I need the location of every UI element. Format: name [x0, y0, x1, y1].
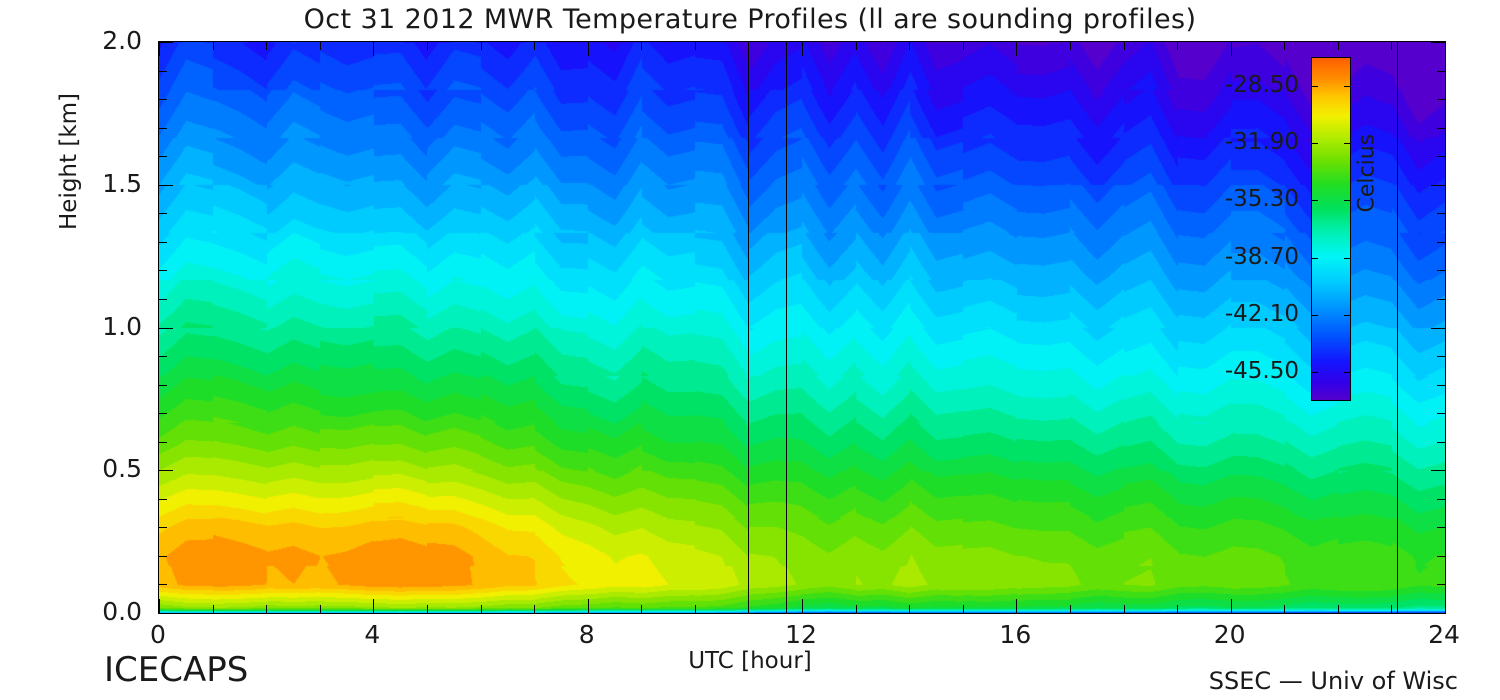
y-tick-1.8: [159, 99, 167, 100]
colorbar-tick--35.30: [1344, 200, 1351, 201]
y-tick-right-0: [1431, 613, 1445, 614]
y-tick-right-0.6: [1437, 442, 1445, 443]
x-tick-label-4: 4: [332, 620, 412, 649]
y-tick-right-0.5: [1431, 470, 1445, 471]
colorbar-label--42.10: -42.10: [1199, 301, 1299, 327]
y-tick-2: [159, 42, 173, 43]
x-tick-top-22: [1338, 42, 1339, 50]
colorbar-tick--28.50: [1344, 86, 1351, 87]
y-tick-0.1: [159, 584, 167, 585]
y-tick-1.4: [159, 213, 167, 214]
x-tick-9: [641, 605, 642, 613]
x-tick-label-24: 24: [1404, 620, 1484, 649]
y-tick-right-1.8: [1437, 99, 1445, 100]
y-tick-right-0.8: [1437, 385, 1445, 386]
sounding-profile-line-2: [786, 42, 787, 613]
x-tick-8: [588, 599, 589, 613]
y-tick-right-1.2: [1437, 270, 1445, 271]
x-tick-19: [1177, 605, 1178, 613]
colorbar-label--28.50: -28.50: [1199, 72, 1299, 98]
x-tick-top-14: [909, 42, 910, 50]
colorbar-label--38.70: -38.70: [1199, 244, 1299, 270]
x-tick-top-19: [1177, 42, 1178, 50]
sounding-profile-line-3: [1397, 42, 1398, 613]
x-tick-12: [802, 599, 803, 613]
y-tick-1.2: [159, 270, 167, 271]
y-tick-0.8: [159, 385, 167, 386]
x-tick-top-9: [641, 42, 642, 50]
x-tick-top-21: [1284, 42, 1285, 50]
institution-credit: SSEC — Univ of Wisc: [1209, 667, 1458, 695]
colorbar-title: Celcius: [1355, 183, 1380, 213]
x-tick-top-17: [1070, 42, 1071, 50]
sounding-profile-line-1: [748, 42, 749, 613]
x-tick-label-0: 0: [118, 620, 198, 649]
y-tick-label-2.0: 2.0: [84, 26, 142, 55]
x-tick-5: [427, 605, 428, 613]
x-tick-4: [373, 599, 374, 613]
x-tick-17: [1070, 605, 1071, 613]
x-tick-16: [1016, 599, 1017, 613]
colorbar-label--31.90: -31.90: [1199, 129, 1299, 155]
y-tick-right-1.5: [1431, 185, 1445, 186]
colorbar-tick--42.10: [1311, 315, 1318, 316]
colorbar-tick--31.90: [1344, 143, 1351, 144]
y-tick-1.7: [159, 128, 167, 129]
y-tick-0.6: [159, 442, 167, 443]
figure-canvas: Oct 31 2012 MWR Temperature Profiles (ll…: [0, 0, 1500, 700]
y-tick-0.9: [159, 356, 167, 357]
x-tick-label-12: 12: [761, 620, 841, 649]
x-tick-22: [1338, 605, 1339, 613]
y-tick-0.2: [159, 556, 167, 557]
y-tick-0.4: [159, 499, 167, 500]
x-tick-top-10: [695, 42, 696, 50]
colorbar-tick--45.50: [1344, 372, 1351, 373]
x-tick-top-4: [373, 42, 374, 56]
x-tick-label-20: 20: [1190, 620, 1270, 649]
y-axis-title: Height [km]: [56, 196, 82, 230]
y-tick-right-0.2: [1437, 556, 1445, 557]
y-tick-right-0.9: [1437, 356, 1445, 357]
x-tick-10: [695, 605, 696, 613]
x-tick-top-3: [320, 42, 321, 50]
x-tick-1: [213, 605, 214, 613]
y-tick-1: [159, 328, 173, 329]
y-tick-right-2: [1431, 42, 1445, 43]
x-tick-top-7: [534, 42, 535, 50]
x-tick-top-13: [856, 42, 857, 50]
colorbar-tick--38.70: [1344, 258, 1351, 259]
y-tick-label-1.5: 1.5: [84, 169, 142, 198]
x-tick-20: [1231, 599, 1232, 613]
x-tick-0: [159, 599, 160, 613]
colorbar-label--35.30: -35.30: [1199, 186, 1299, 212]
x-tick-23: [1391, 605, 1392, 613]
y-tick-right-1: [1431, 328, 1445, 329]
x-tick-label-16: 16: [975, 620, 1055, 649]
x-tick-top-24: [1445, 42, 1446, 56]
colorbar: [1311, 57, 1351, 401]
x-tick-label-8: 8: [547, 620, 627, 649]
x-tick-2: [266, 605, 267, 613]
y-tick-0.5: [159, 470, 173, 471]
y-tick-right-1.3: [1437, 242, 1445, 243]
x-tick-top-2: [266, 42, 267, 50]
y-tick-1.9: [159, 71, 167, 72]
y-tick-right-0.3: [1437, 527, 1445, 528]
x-tick-top-0: [159, 42, 160, 56]
x-tick-top-6: [481, 42, 482, 50]
y-tick-1.1: [159, 299, 167, 300]
y-tick-right-1.7: [1437, 128, 1445, 129]
colorbar-tick--42.10: [1344, 315, 1351, 316]
y-tick-1.5: [159, 185, 173, 186]
temperature-heatmap: [159, 42, 1445, 613]
colorbar-tick--35.30: [1311, 200, 1318, 201]
x-tick-top-20: [1231, 42, 1232, 56]
y-tick-1.6: [159, 156, 167, 157]
x-tick-6: [481, 605, 482, 613]
x-tick-21: [1284, 605, 1285, 613]
x-tick-3: [320, 605, 321, 613]
y-tick-0: [159, 613, 173, 614]
colorbar-tick--31.90: [1311, 143, 1318, 144]
y-tick-label-1.0: 1.0: [84, 312, 142, 341]
x-tick-top-5: [427, 42, 428, 50]
colorbar-tick--28.50: [1311, 86, 1318, 87]
project-credit: ICECAPS: [104, 650, 248, 690]
x-tick-top-1: [213, 42, 214, 50]
plot-area: [158, 41, 1446, 614]
y-tick-label-0.5: 0.5: [84, 454, 142, 483]
x-tick-14: [909, 605, 910, 613]
colorbar-gradient: [1311, 57, 1351, 401]
y-tick-right-0.4: [1437, 499, 1445, 500]
colorbar-tick--38.70: [1311, 258, 1318, 259]
y-tick-0.3: [159, 527, 167, 528]
x-tick-15: [963, 605, 964, 613]
y-tick-right-1.9: [1437, 71, 1445, 72]
x-tick-18: [1124, 605, 1125, 613]
x-tick-top-16: [1016, 42, 1017, 56]
page-title: Oct 31 2012 MWR Temperature Profiles (ll…: [0, 4, 1500, 35]
y-tick-right-0.7: [1437, 413, 1445, 414]
y-tick-1.3: [159, 242, 167, 243]
colorbar-tick--45.50: [1311, 372, 1318, 373]
y-tick-right-0.1: [1437, 584, 1445, 585]
x-tick-top-23: [1391, 42, 1392, 50]
x-tick-7: [534, 605, 535, 613]
y-tick-right-1.4: [1437, 213, 1445, 214]
x-tick-13: [856, 605, 857, 613]
x-tick-top-18: [1124, 42, 1125, 50]
y-tick-0.7: [159, 413, 167, 414]
x-tick-24: [1445, 599, 1446, 613]
x-tick-top-15: [963, 42, 964, 50]
x-tick-top-8: [588, 42, 589, 56]
colorbar-label--45.50: -45.50: [1199, 358, 1299, 384]
y-tick-right-1.1: [1437, 299, 1445, 300]
y-tick-right-1.6: [1437, 156, 1445, 157]
x-tick-top-12: [802, 42, 803, 56]
